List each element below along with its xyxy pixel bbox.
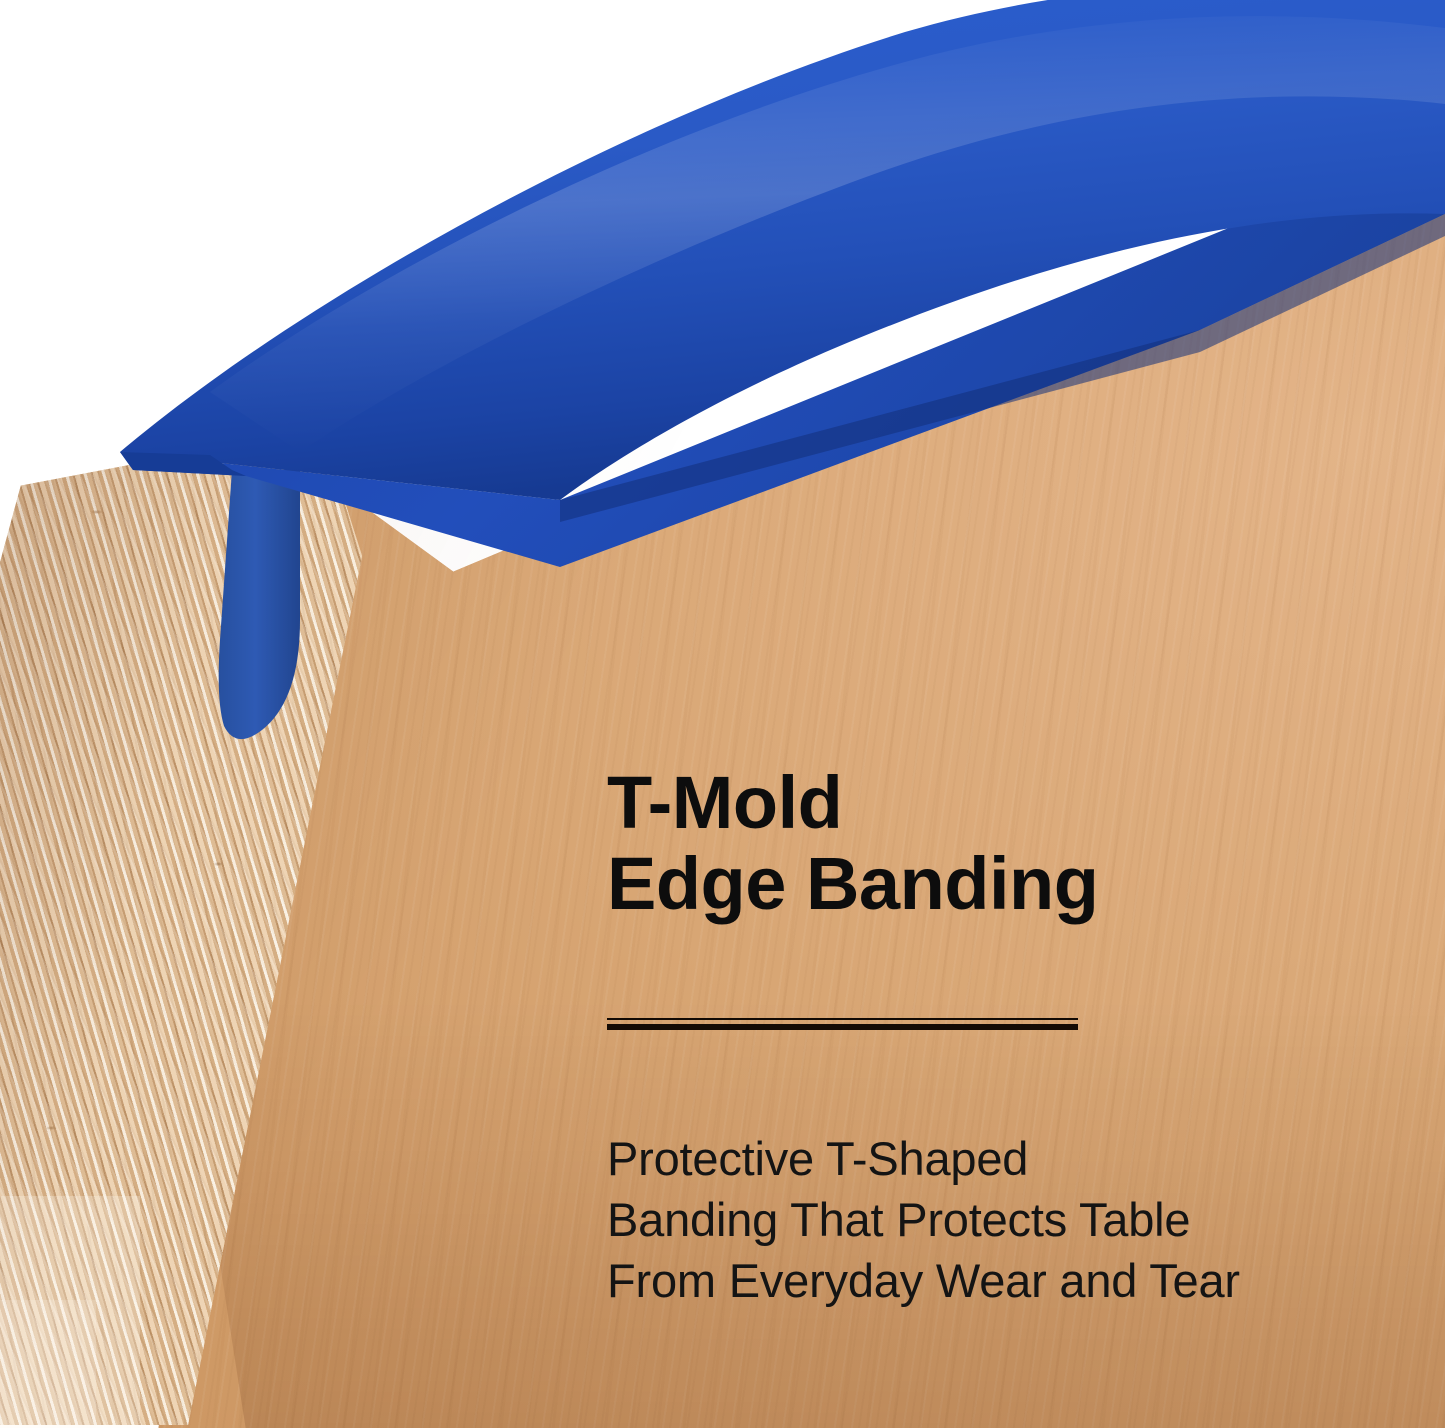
subheadline-line-3: From Everyday Wear and Tear: [607, 1250, 1387, 1311]
subheadline-block: Protective T-Shaped Banding That Protect…: [607, 1128, 1387, 1311]
divider-thin-line: [607, 1018, 1078, 1020]
subheadline-line-2: Banding That Protects Table: [607, 1189, 1387, 1250]
headline-line-1: T-Mold: [607, 761, 842, 844]
page-title: T-Mold Edge Banding: [607, 762, 1367, 925]
subheadline-line-1: Protective T-Shaped: [607, 1128, 1387, 1189]
divider: [607, 1018, 1078, 1031]
headline-block: T-Mold Edge Banding: [607, 762, 1367, 925]
divider-thick-line: [607, 1024, 1078, 1030]
headline-line-2: Edge Banding: [607, 843, 1367, 924]
product-image-canvas: T-Mold Edge Banding Protective T-Shaped …: [0, 0, 1445, 1428]
